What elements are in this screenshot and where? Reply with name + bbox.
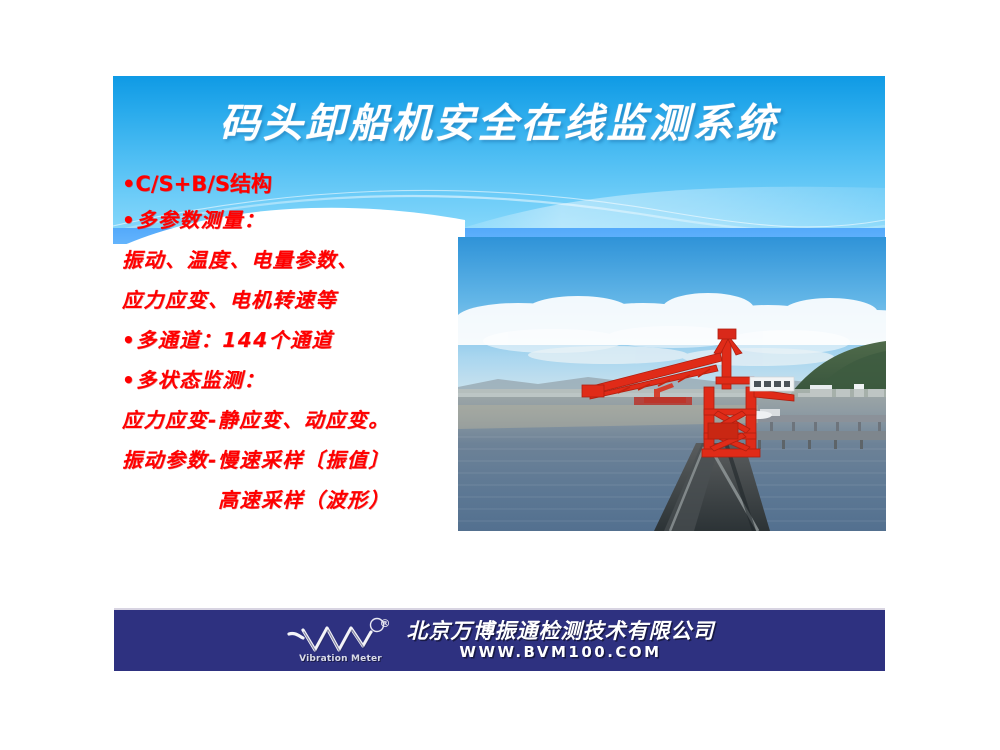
crane-sign: [750, 377, 794, 391]
company-logo: ® Vibration Meter: [285, 616, 393, 666]
logo-subtitle: Vibration Meter: [291, 654, 391, 664]
bullet-multi-state: •多状态监测：: [122, 360, 462, 400]
footer-company-block: 北京万博振通检测技术有限公司 WWW.BVM100.COM: [407, 619, 715, 663]
footer-bar: ® Vibration Meter 北京万博振通检测技术有限公司 WWW.BVM…: [114, 608, 885, 671]
bullet-list: •C/S+B/S结构 •多参数测量： 振动、温度、电量参数、 应力应变、电机转速…: [122, 168, 462, 520]
bullet-multi-parameter: •多参数测量：: [122, 200, 462, 240]
bullet-param-list-1: 振动、温度、电量参数、: [122, 240, 462, 280]
crane-photo: [458, 237, 886, 531]
bullet-strain-modes: 应力应变-静应变、动应变。: [122, 400, 462, 440]
bullet-param-list-2: 应力应变、电机转速等: [122, 280, 462, 320]
company-website: WWW.BVM100.COM: [407, 643, 715, 661]
page-title: 码头卸船机安全在线监测系统: [113, 98, 885, 150]
crane-photo-illustration: [458, 237, 886, 531]
presentation-slide: 码头卸船机安全在线监测系统 •C/S+B/S结构 •多参数测量： 振动、温度、电…: [0, 0, 1000, 750]
bullet-architecture: •C/S+B/S结构: [122, 168, 462, 200]
company-name-cn: 北京万博振通检测技术有限公司: [407, 619, 715, 643]
registered-mark: ®: [380, 617, 391, 630]
bullet-multi-channel: •多通道：144个通道: [122, 320, 462, 360]
bullet-vibration-fast: 高速采样（波形）: [122, 480, 462, 520]
bullet-vibration-slow: 振动参数-慢速采样〔振值〕: [122, 440, 462, 480]
